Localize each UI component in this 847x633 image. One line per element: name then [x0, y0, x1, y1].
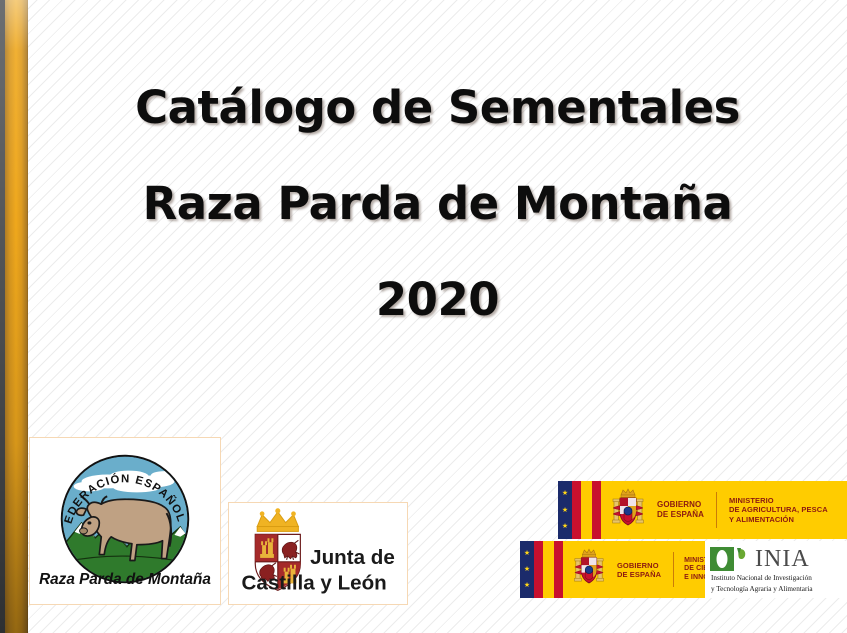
accent-bar-gold-shaft	[5, 0, 28, 633]
spain-flag-yellow	[581, 481, 592, 539]
raza-parda-logo: FEDERACIÓN ESPAÑOLA Raza Parda de Montañ…	[30, 438, 220, 604]
eu-flag-blue: ★★★	[558, 481, 572, 539]
junta-label-line2: Castilla y León	[242, 571, 387, 594]
raza-parda-emblem-icon: FEDERACIÓN ESPAÑOLA Raza Parda de Montañ…	[30, 438, 220, 604]
eu-flag-blue-ciencia: ★★★	[520, 541, 534, 598]
junta-castilla-leon-logo-box: Junta de Castilla y León	[228, 502, 408, 605]
eu-stars-icon-ciencia: ★★★	[520, 541, 534, 598]
eu-stars-icon: ★★★	[558, 481, 572, 539]
spain-flag-red-right-ciencia	[554, 541, 563, 598]
flag-strip: ★★★	[558, 481, 601, 539]
ministerio-agricultura-label: MINISTERIO DE AGRICULTURA, PESCA Y ALIME…	[729, 496, 847, 525]
inia-acronym: INIA	[755, 547, 810, 571]
junta-castilla-leon-logo: Junta de Castilla y León	[229, 503, 407, 604]
gobierno-agricultura-content: GOBIERNO DE ESPAÑA MINISTERIO DE AGRICUL…	[601, 481, 847, 539]
spain-flag-yellow-ciencia	[543, 541, 554, 598]
junta-label-line1: Junta de	[310, 546, 395, 569]
junta-castilla-leon-icon: Junta de Castilla y León	[229, 503, 407, 604]
banner-divider-ciencia	[673, 552, 674, 587]
spain-flag-red-right	[592, 481, 601, 539]
raza-parda-logo-box: FEDERACIÓN ESPAÑOLA Raza Parda de Montañ…	[29, 437, 221, 605]
gobierno-de-espana-label: GOBIERNO DE ESPAÑA	[657, 500, 704, 520]
title-slide: Catálogo de Sementales Raza Parda de Mon…	[0, 0, 847, 633]
inia-subtitle-line1: Instituto Nacional de Investigación	[710, 574, 847, 583]
spain-coat-of-arms-icon	[611, 486, 645, 535]
page-title-line-1: Catálogo de Sementales	[28, 60, 847, 156]
title-block: Catálogo de Sementales Raza Parda de Mon…	[28, 60, 847, 348]
page-title-line-3: 2020	[28, 252, 847, 348]
spain-flag-red-left	[572, 481, 581, 539]
crown-icon	[257, 508, 298, 531]
inia-logotype: INIA	[710, 546, 847, 572]
flag-strip-ciencia: ★★★	[520, 541, 563, 598]
inia-logo: INIA Instituto Nacional de Investigación…	[705, 541, 847, 598]
page-title-line-2: Raza Parda de Montaña	[28, 156, 847, 252]
gobierno-agricultura-banner: ★★★	[558, 481, 847, 539]
gobierno-de-espana-label-ciencia: GOBIERNO DE ESPAÑA	[617, 561, 661, 579]
raza-parda-caption: Raza Parda de Montaña	[39, 571, 211, 588]
spain-flag-red-left-ciencia	[534, 541, 543, 598]
inia-subtitle-line2: y Tecnología Agraria y Alimentaria	[710, 585, 847, 594]
banner-divider	[716, 492, 717, 528]
spain-coat-of-arms-icon-ciencia	[573, 546, 605, 593]
inia-leaf-mark-icon	[710, 547, 754, 571]
accent-bar	[0, 0, 28, 633]
